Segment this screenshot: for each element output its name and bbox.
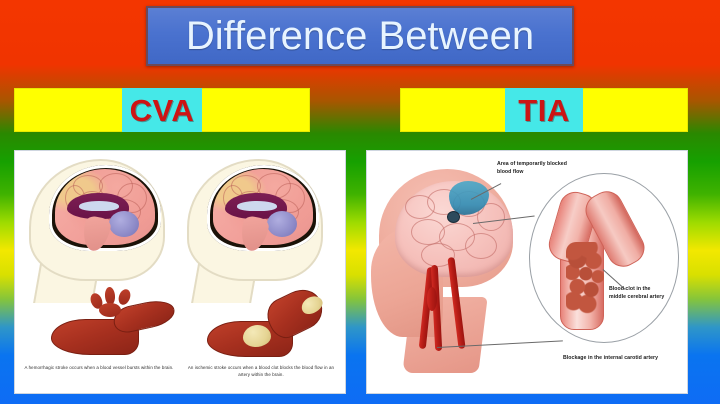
ruptured-blood-vessel bbox=[47, 283, 187, 361]
cva-figure: A hemorrhagic stroke occurs when a blood… bbox=[15, 151, 345, 393]
abbreviation-chip-tia: TIA bbox=[505, 88, 583, 132]
caption-hemorrhagic: A hemorrhagic stroke occurs when a blood… bbox=[21, 365, 177, 372]
slide-title-box: Difference Between bbox=[146, 6, 574, 66]
illustration-panel-tia: Area of temporarily blocked blood flow B… bbox=[366, 150, 688, 394]
slide-canvas: Difference Between CVA TIA bbox=[0, 0, 720, 404]
abbreviation-chip-cva: CVA bbox=[122, 88, 203, 132]
magnified-artery-inset bbox=[529, 173, 679, 343]
carotid-blockage-site bbox=[427, 287, 437, 311]
illustration-panel-cva: A hemorrhagic stroke occurs when a blood… bbox=[14, 150, 346, 394]
ventricle bbox=[79, 201, 119, 211]
ventricle bbox=[237, 201, 277, 211]
label-blood-clot: Blood clot in the middle cerebral artery bbox=[609, 286, 667, 301]
abbreviation-label-tia: TIA bbox=[518, 95, 569, 126]
label-blocked-blood-flow: Area of temporarily blocked blood flow bbox=[497, 161, 573, 176]
page-title: Difference Between bbox=[186, 16, 534, 56]
cerebellum bbox=[109, 211, 139, 237]
blood-clot-cells bbox=[566, 242, 604, 314]
heading-bar-cva: CVA bbox=[14, 88, 310, 132]
cerebellum bbox=[267, 211, 297, 237]
label-carotid-blockage: Blockage in the internal carotid artery bbox=[563, 355, 659, 363]
occlusion-marker bbox=[447, 211, 460, 223]
clotted-blood-vessel bbox=[205, 279, 345, 361]
head-diagram-tia bbox=[371, 169, 531, 369]
abbreviation-label-cva: CVA bbox=[130, 95, 195, 126]
tia-figure: Area of temporarily blocked blood flow B… bbox=[367, 151, 687, 393]
heading-bar-tia: TIA bbox=[400, 88, 688, 132]
caption-ischemic: An ischemic stroke occurs when a blood c… bbox=[183, 365, 339, 378]
